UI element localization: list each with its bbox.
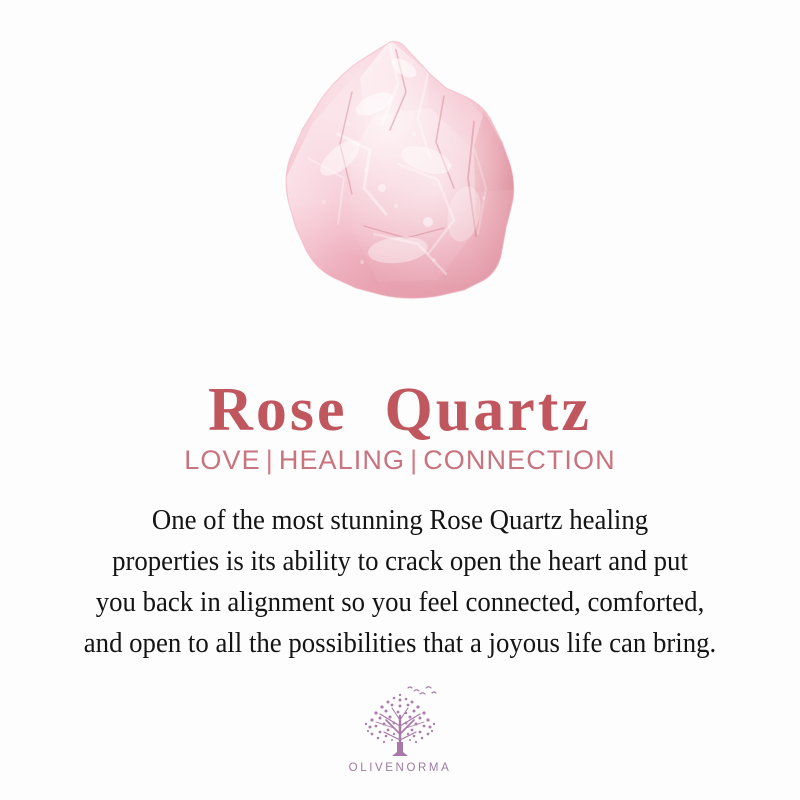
keyword-love: LOVE xyxy=(184,445,260,475)
crystal-faces xyxy=(278,38,530,300)
hero-image-area xyxy=(0,0,800,320)
description-line-3: you back in alignment so you feel connec… xyxy=(54,582,746,623)
keyword-separator-1: | xyxy=(261,445,279,475)
product-info-card: Rose Quartz LOVE|HEALING|CONNECTION One … xyxy=(0,0,800,800)
birds-icon xyxy=(408,687,436,694)
olivenorma-tree-icon xyxy=(354,682,446,760)
keyword-healing: HEALING xyxy=(279,445,405,475)
tree-trunk xyxy=(392,742,408,756)
brand-wordmark: OLIVENORMA xyxy=(349,762,452,774)
description-paragraph: One of the most stunning Rose Quartz hea… xyxy=(54,500,746,664)
rose-quartz-crystal-image xyxy=(278,38,530,300)
page-title: Rose Quartz xyxy=(0,378,800,443)
description-line-2: properties is its ability to crack open … xyxy=(54,541,746,582)
keyword-connection: CONNECTION xyxy=(423,445,616,475)
description-line-1: One of the most stunning Rose Quartz hea… xyxy=(54,500,746,541)
keyword-line: LOVE|HEALING|CONNECTION xyxy=(0,444,800,476)
keyword-separator-2: | xyxy=(405,445,423,475)
description-line-4: and open to all the possibilities that a… xyxy=(54,623,746,664)
brand-logo: OLIVENORMA xyxy=(0,682,800,774)
